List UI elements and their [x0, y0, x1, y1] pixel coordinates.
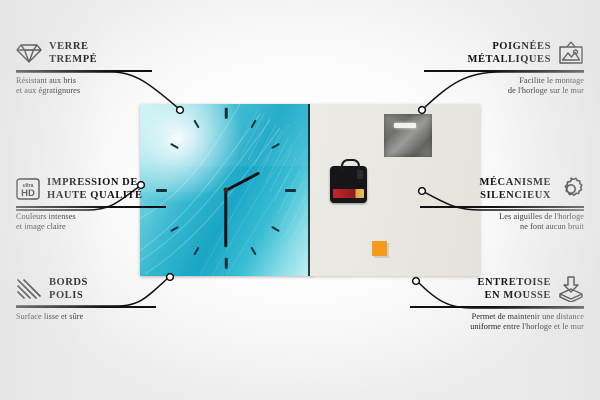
feature-sub-line2: ne font aucun bruit [420, 222, 584, 233]
feature-sub-line2: de l'horloge sur le mur [424, 86, 584, 97]
feature-bords-polis: BORDS POLIS Surface lisse et sûre [16, 276, 156, 322]
feature-mecanisme-silencieux: MÉCANISME SILENCIEUX Les aiguilles de l'… [420, 176, 584, 233]
divider [424, 70, 584, 72]
divider [420, 206, 584, 208]
metal-hanger-plate [384, 114, 432, 157]
feature-title-line2: HAUTE QUALITÉ [47, 189, 143, 202]
feature-title-line1: VERRE [49, 40, 97, 53]
battery [333, 189, 364, 198]
feature-sub-line2: et image claire [16, 222, 166, 233]
feature-title-line2: MÉTALLIQUES [468, 53, 551, 66]
feature-sub-line1: Les aiguilles de l'horloge [420, 212, 584, 223]
ultra-hd-large-text: HD [21, 188, 35, 199]
feature-impression-haute-qualite: ultra HD IMPRESSION DE HAUTE QUALITÉ Cou… [16, 176, 166, 233]
ultra-hd-icon: ultra HD [16, 178, 40, 200]
hanging-frame-icon [558, 41, 584, 65]
feature-poignees-metalliques: POIGNÉES MÉTALLIQUES Facilite le montage… [424, 40, 584, 97]
feature-title-line2: EN MOUSSE [477, 289, 551, 302]
movement-notch [357, 170, 363, 179]
hanger-slot [394, 123, 416, 128]
feature-title-line2: POLIS [49, 289, 88, 302]
feature-title-line1: IMPRESSION DE [47, 176, 143, 189]
feature-sub-line1: Couleurs intenses [16, 212, 166, 223]
feature-sub-line1: Facilite le montage [424, 76, 584, 87]
feature-title-line2: SILENCIEUX [480, 189, 551, 202]
feature-title-line1: POIGNÉES [468, 40, 551, 53]
feature-sub-line1: Permet de maintenir une distance [410, 312, 584, 323]
gear-icon [558, 176, 584, 202]
tick-3 [285, 189, 296, 192]
minute-hand [225, 191, 228, 247]
divider [410, 306, 584, 308]
clock-movement [330, 166, 367, 203]
feature-sub-line1: Surface lisse et sûre [16, 312, 156, 323]
diamond-icon [16, 42, 42, 64]
feature-sub-line2: uniforme entre l'horloge et le mur [410, 322, 584, 333]
press-down-foam-icon [558, 276, 584, 302]
infographic-canvas: VERRE TREMPÉ Résistant aux bris et aux é… [0, 0, 600, 400]
divider [16, 206, 166, 208]
divider [16, 306, 156, 308]
tick-6 [225, 258, 228, 269]
feature-sub-line2: et aux égratignures [16, 86, 152, 97]
feature-title-line1: MÉCANISME [480, 176, 551, 189]
feature-entretoise-en-mousse: ENTRETOISE EN MOUSSE Permet de maintenir… [410, 276, 584, 333]
tick-12 [225, 108, 228, 119]
clock-hub [224, 188, 229, 193]
feature-title-line2: TREMPÉ [49, 53, 97, 66]
feature-sub-line1: Résistant aux bris [16, 76, 152, 87]
feature-verre-trempe: VERRE TREMPÉ Résistant aux bris et aux é… [16, 40, 152, 97]
feature-title-line1: ENTRETOISE [477, 276, 551, 289]
divider [16, 70, 152, 72]
feature-title-line1: BORDS [49, 276, 88, 289]
polished-edge-hatch-icon [16, 278, 42, 300]
foam-spacer [372, 241, 387, 256]
